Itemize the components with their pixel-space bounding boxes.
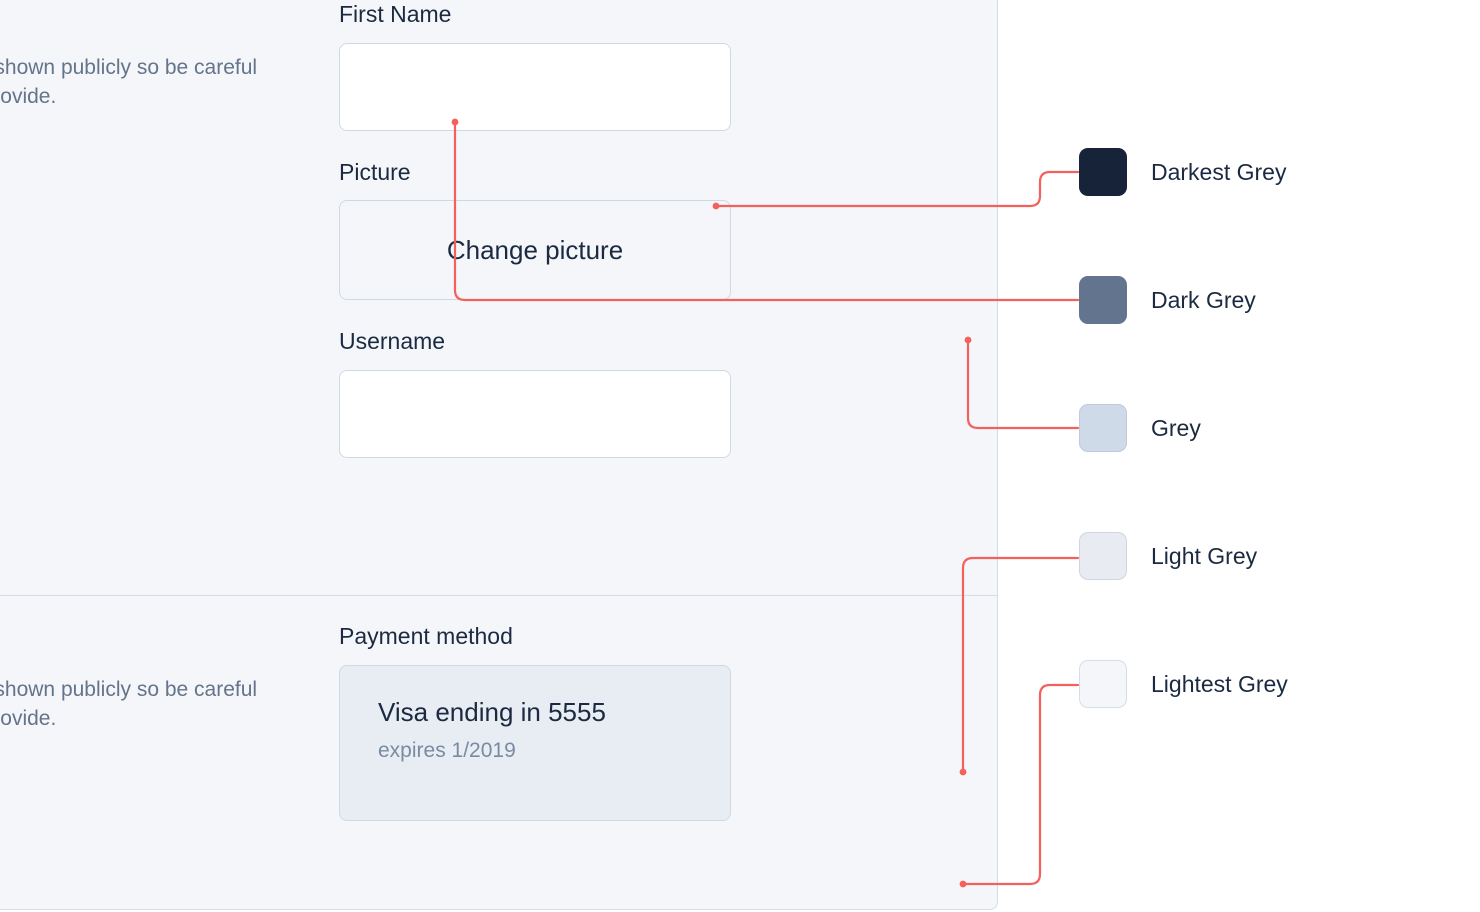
section-billing-description: This information will be shown publicly … <box>0 675 295 735</box>
field-first-name: First Name <box>339 1 997 131</box>
legend-item-dark-grey: Dark Grey <box>1079 276 1256 324</box>
legend-label-light-grey: Light Grey <box>1151 545 1257 568</box>
change-picture-button[interactable]: Change picture <box>339 200 731 300</box>
legend-label-dark-grey: Dark Grey <box>1151 289 1256 312</box>
swatch-light-grey <box>1079 532 1127 580</box>
payment-card-expiry: expires 1/2019 <box>378 738 730 763</box>
section-profile-description: This information will be shown publicly … <box>0 53 295 113</box>
picture-label: Picture <box>339 159 997 187</box>
field-payment-method: Payment method Visa ending in 5555 expir… <box>339 623 997 821</box>
swatch-grey <box>1079 404 1127 452</box>
screenshot-root: Profile This information will be shown p… <box>0 0 1480 912</box>
legend-label-lightest-grey: Lightest Grey <box>1151 673 1288 696</box>
section-profile-left: Profile This information will be shown p… <box>0 0 339 595</box>
username-input[interactable] <box>339 370 731 458</box>
username-label: Username <box>339 328 997 356</box>
section-profile-right: First Name Picture Change picture Userna… <box>339 0 997 595</box>
section-billing-left: Billing This information will be shown p… <box>0 595 339 910</box>
section-billing: Billing This information will be shown p… <box>0 595 997 910</box>
settings-card: Profile This information will be shown p… <box>0 0 998 910</box>
change-picture-label: Change picture <box>447 235 623 266</box>
field-username: Username <box>339 328 997 458</box>
payment-method-label: Payment method <box>339 623 997 651</box>
field-picture: Picture Change picture <box>339 159 997 301</box>
payment-method-card[interactable]: Visa ending in 5555 expires 1/2019 <box>339 665 731 821</box>
payment-card-title: Visa ending in 5555 <box>378 696 730 729</box>
legend-item-grey: Grey <box>1079 404 1201 452</box>
swatch-lightest-grey <box>1079 660 1127 708</box>
color-legend: Darkest Grey Dark Grey Grey Light Grey L… <box>1079 0 1479 912</box>
legend-label-grey: Grey <box>1151 417 1201 440</box>
swatch-darkest-grey <box>1079 148 1127 196</box>
first-name-input[interactable] <box>339 43 731 131</box>
legend-item-darkest-grey: Darkest Grey <box>1079 148 1286 196</box>
first-name-label: First Name <box>339 1 997 29</box>
legend-item-light-grey: Light Grey <box>1079 532 1257 580</box>
section-profile: Profile This information will be shown p… <box>0 0 997 595</box>
swatch-dark-grey <box>1079 276 1127 324</box>
section-billing-title: Billing <box>0 623 295 659</box>
section-profile-title: Profile <box>0 1 295 37</box>
legend-item-lightest-grey: Lightest Grey <box>1079 660 1288 708</box>
section-billing-right: Payment method Visa ending in 5555 expir… <box>339 595 997 910</box>
legend-label-darkest-grey: Darkest Grey <box>1151 161 1286 184</box>
